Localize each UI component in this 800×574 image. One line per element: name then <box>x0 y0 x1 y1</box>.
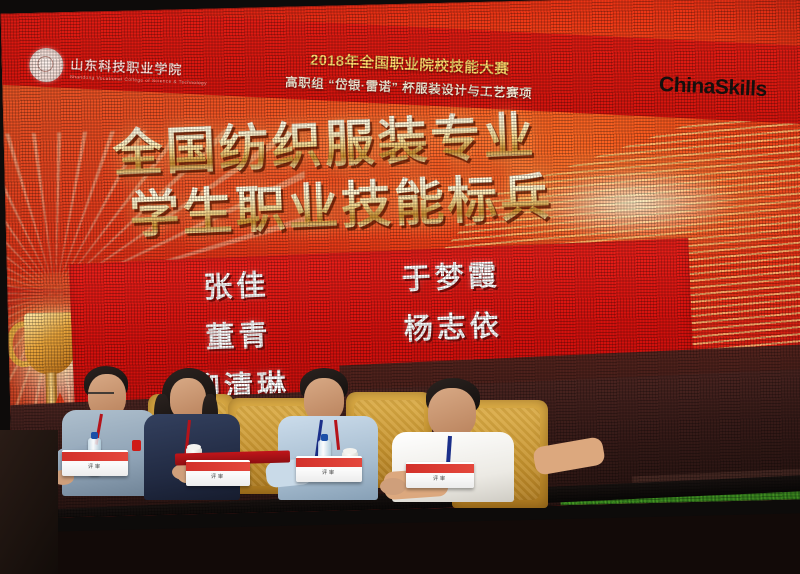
honoree-name: 杨志依 <box>350 302 557 355</box>
honoree-name: 张佳 <box>133 261 340 314</box>
placard-bar <box>62 452 128 461</box>
main-title: 全国纺织服装专业 学生职业技能标兵 <box>111 99 676 247</box>
name-placard[interactable]: 评审 <box>406 462 474 488</box>
placard-bar <box>406 464 474 473</box>
name-placard[interactable]: 评审 <box>186 460 250 486</box>
panelist-partial <box>534 408 614 488</box>
name-placard[interactable]: 评审 <box>296 456 362 482</box>
chinaskills-brand: ChinaSkills <box>659 73 768 102</box>
placard-bar <box>296 458 362 467</box>
glasses-icon <box>88 392 114 401</box>
name-placard[interactable]: 评审 <box>62 450 128 476</box>
head <box>428 388 476 438</box>
placard-name: 评审 <box>296 469 362 476</box>
placard-name: 评审 <box>62 463 128 470</box>
placard-bar <box>186 462 250 471</box>
foreground-shadow-left <box>0 430 58 574</box>
placard-name: 评审 <box>406 475 474 482</box>
screenshot-root: 山东科技职业学院 Shandong Vocational College of … <box>0 0 800 574</box>
panel-area: 评审 评审 评审 评审 <box>0 352 800 574</box>
placard-name: 评审 <box>186 473 250 480</box>
university-seal-icon <box>29 47 65 83</box>
arm <box>532 436 606 476</box>
school-logo: 山东科技职业学院 Shandong Vocational College of … <box>29 47 209 89</box>
honoree-name: 于梦霞 <box>348 252 555 305</box>
hand <box>380 478 406 495</box>
